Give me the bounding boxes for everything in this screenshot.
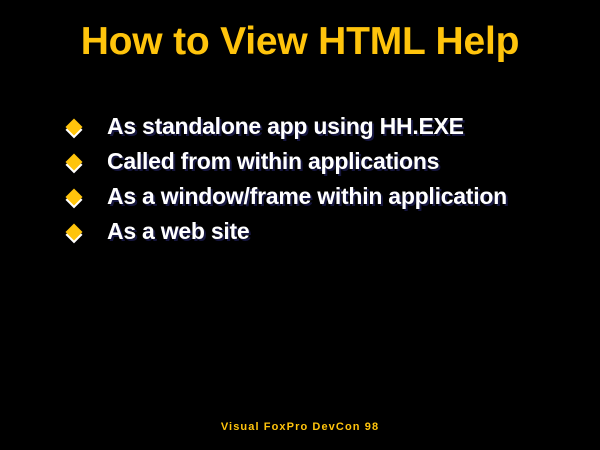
list-item: Called from within applications	[62, 147, 562, 176]
bullet-text: As a web site	[107, 217, 562, 246]
list-item: As a window/frame within application	[62, 182, 562, 211]
diamond-bullet-icon	[66, 154, 83, 171]
bullet-list: As standalone app using HH.EXE Called fr…	[62, 112, 562, 252]
list-item: As standalone app using HH.EXE	[62, 112, 562, 141]
bullet-text: As standalone app using HH.EXE	[107, 112, 562, 141]
slide-footer: Visual FoxPro DevCon 98	[0, 421, 600, 433]
slide-title: How to View HTML Help	[0, 19, 600, 65]
list-item: As a web site	[62, 217, 562, 246]
presentation-slide: How to View HTML Help As standalone app …	[0, 0, 600, 450]
bullet-text: Called from within applications	[107, 147, 562, 176]
diamond-bullet-icon	[66, 189, 83, 206]
diamond-bullet-icon	[66, 119, 83, 136]
diamond-bullet-icon	[66, 224, 83, 241]
bullet-text: As a window/frame within application	[107, 182, 562, 211]
